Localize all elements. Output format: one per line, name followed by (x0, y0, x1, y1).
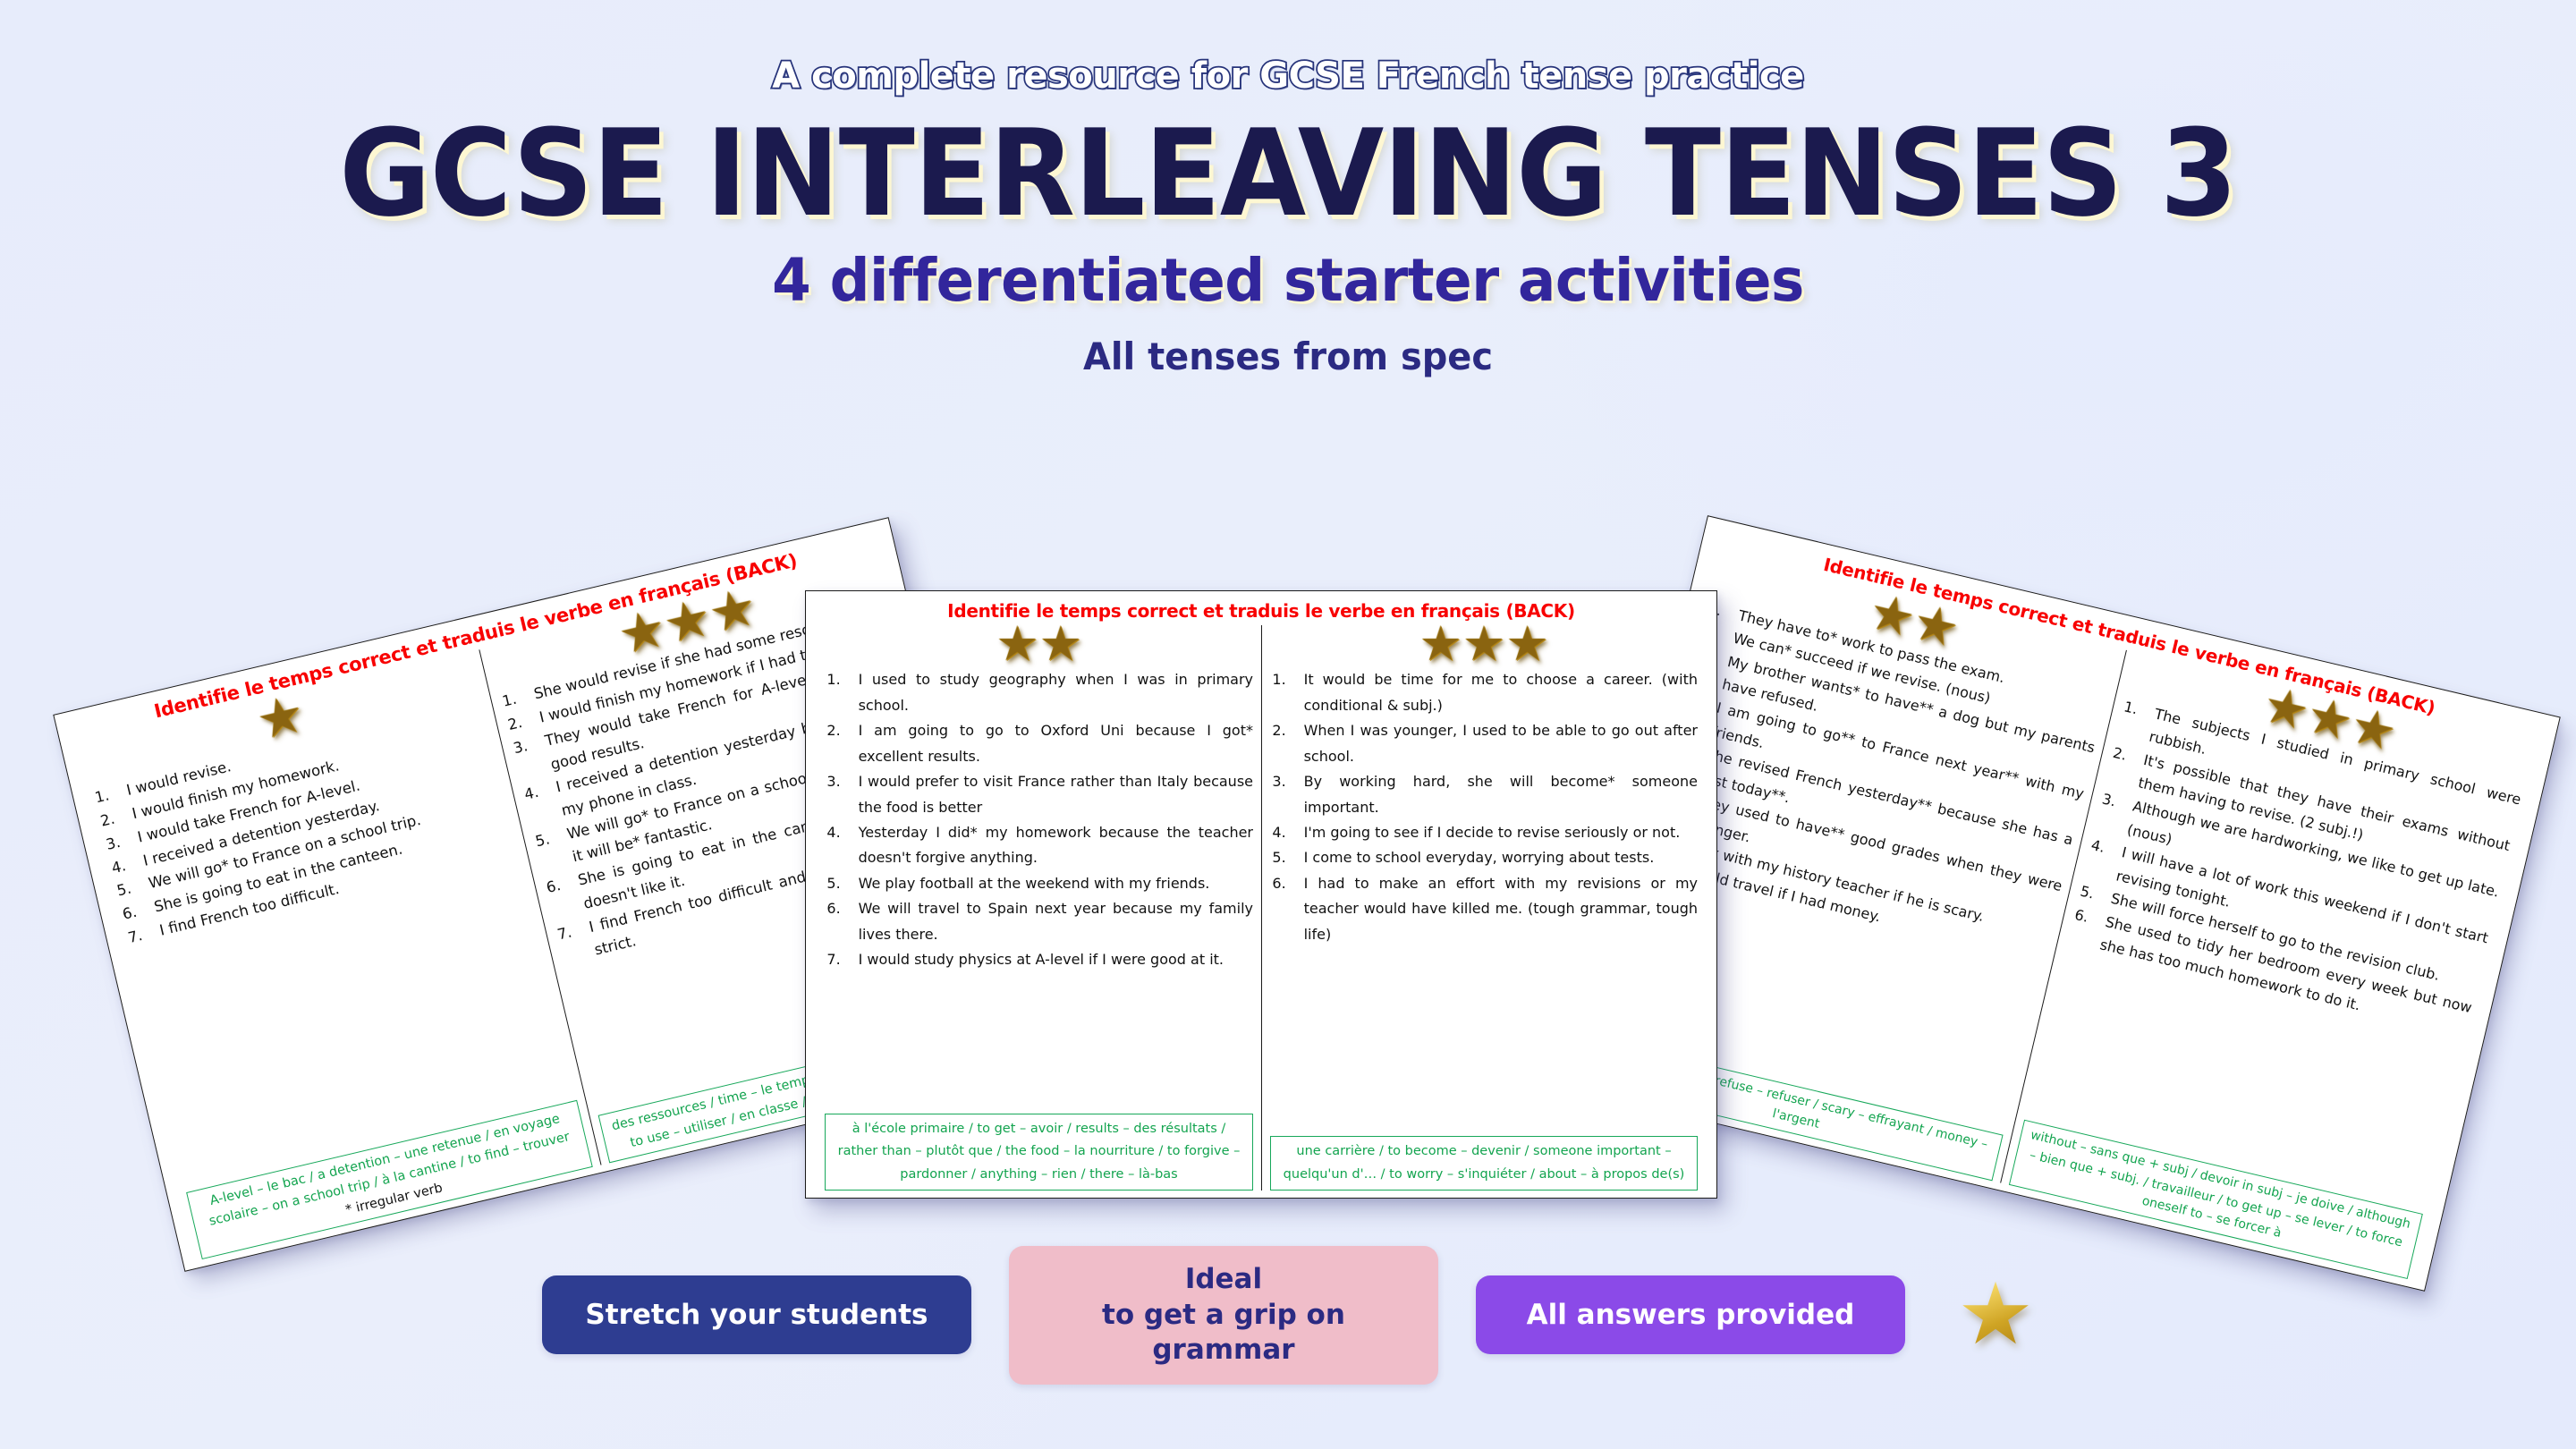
gold-star-icon: ★ (1419, 625, 1462, 664)
vocab-text: à l'école primaire / to get – avoir / re… (838, 1122, 1241, 1182)
star-rating-1: ★★ (825, 625, 1253, 664)
question-item: I am going to go to Oxford Uni because I… (825, 718, 1253, 769)
question-item: I would prefer to visit France rather th… (825, 769, 1253, 820)
worksheet-card-center[interactable]: Identifie le temps correct et traduis le… (805, 590, 1717, 1199)
question-item: By working hard, she will become* someon… (1270, 769, 1698, 820)
question-list-2: It would be time for me to choose a care… (1270, 667, 1698, 1136)
footer-badges: Stretch your students Idealto get a grip… (0, 1246, 2576, 1385)
question-item: I used to study geography when I was in … (825, 667, 1253, 718)
gold-star-icon: ★ (1957, 1272, 2034, 1358)
vocab-box-2: une carrière / to become – devenir / som… (1270, 1136, 1698, 1191)
worksheet-card-right[interactable]: Identifie le temps correct et traduis le… (1572, 515, 2561, 1292)
all-answers-provided-button[interactable]: All answers provided (1476, 1275, 1905, 1354)
stretch-your-students-button[interactable]: Stretch your students (542, 1275, 971, 1354)
gold-star-icon: ★ (2347, 705, 2400, 754)
gold-star-icon: ★ (1910, 601, 1962, 650)
worksheet-column-1: ★★ I used to study geography when I was … (817, 625, 1261, 1191)
gold-star-icon: ★ (1039, 625, 1082, 664)
worksheet-column-2: ★★★ It would be time for me to choose a … (1261, 625, 1706, 1191)
ideal-grip-on-grammar-button[interactable]: Idealto get a grip on grammar (1009, 1246, 1438, 1385)
page-subtitle: 4 differentiated starter activities (64, 246, 2512, 315)
star-rating-2: ★★★ (1270, 625, 1698, 664)
question-item: I would study physics at A-level if I we… (825, 947, 1253, 972)
question-item: We will travel to Spain next year becaus… (825, 896, 1253, 947)
question-item: Yesterday I did* my homework because the… (825, 820, 1253, 871)
gold-star-icon: ★ (705, 586, 759, 637)
question-item: I come to school everyday, worrying abou… (1270, 845, 1698, 870)
worksheet-columns: ★★ They have to* work to pass the exam.W… (1585, 552, 2541, 1281)
gold-star-icon: ★ (996, 625, 1038, 664)
vocab-text: une carrière / to become – devenir / som… (1284, 1144, 1685, 1181)
page-header: A complete resource for GCSE French tens… (0, 0, 2576, 378)
worksheet-columns: ★★ I used to study geography when I was … (817, 625, 1706, 1191)
gold-star-icon: ★ (1462, 625, 1505, 664)
worksheet-stage: Identifie le temps correct et traduis le… (0, 447, 2576, 1252)
header-kicker: A complete resource for GCSE French tens… (0, 55, 2576, 97)
vocab-box-1: à l'école primaire / to get – avoir / re… (825, 1114, 1253, 1191)
question-item: I'm going to see if I decide to revise s… (1270, 820, 1698, 845)
question-item: It would be time for me to choose a care… (1270, 667, 1698, 718)
question-item: We play football at the weekend with my … (825, 871, 1253, 896)
gold-star-icon: ★ (253, 692, 308, 743)
worksheet-red-title: Identifie le temps correct et traduis le… (817, 600, 1706, 622)
question-list-2: The subjects I studied in primary school… (2024, 695, 2523, 1214)
question-list-1: I used to study geography when I was in … (825, 667, 1253, 1114)
question-item: When I was younger, I used to be able to… (1270, 718, 1698, 769)
page-subtitle-secondary: All tenses from spec (64, 335, 2512, 378)
gold-star-icon: ★ (1505, 625, 1548, 664)
page-title: GCSE INTERLEAVING TENSES 3 (90, 113, 2486, 235)
question-item: I had to make an effort with my revision… (1270, 871, 1698, 947)
